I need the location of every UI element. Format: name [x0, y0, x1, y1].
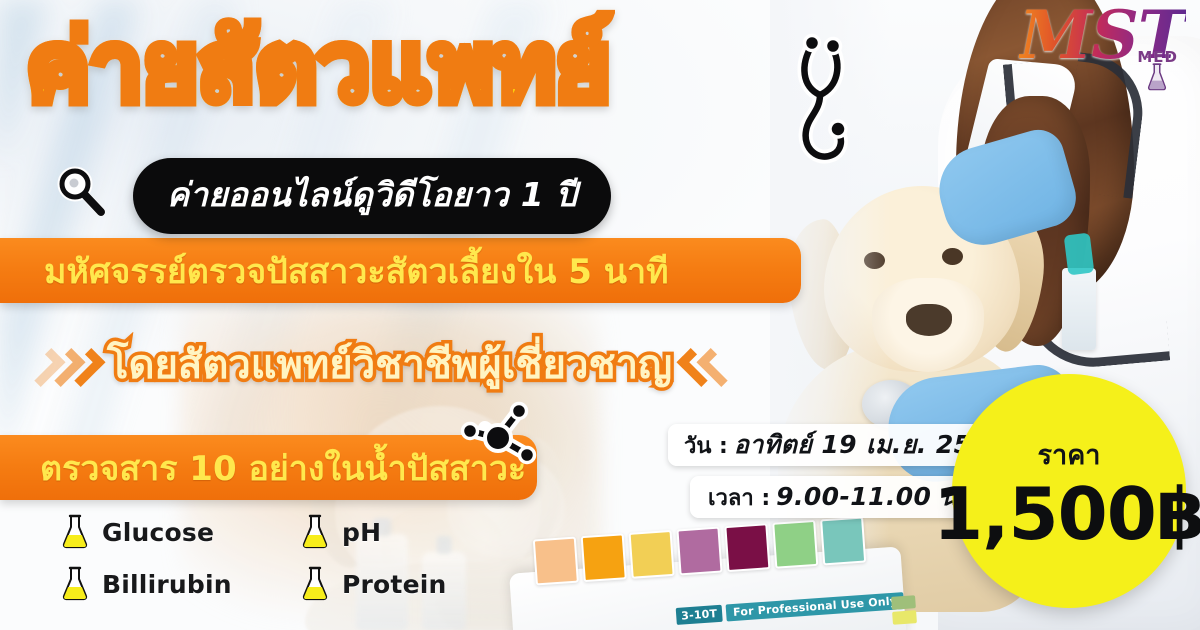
swatch — [724, 523, 770, 572]
swatch — [581, 533, 627, 582]
puppy-nose — [906, 304, 952, 336]
promo-banner: MST MED ค่ายสัตวแพทย์ ค่ายออ — [0, 0, 1200, 630]
feature-banner-1: มหัศจรรย์ตรวจปัสสาวะสัตวเลี้ยงใน 5 นาที — [0, 238, 801, 303]
event-date-key: วัน : — [684, 428, 728, 463]
analyte-list: Glucose pH Billirubin Prot — [60, 506, 540, 610]
page-title: ค่ายสัตวแพทย์ — [26, 18, 610, 118]
flask-icon — [60, 565, 90, 603]
chevrons-right-icon — [36, 344, 93, 384]
molecule-icon — [455, 398, 541, 476]
list-item: Glucose — [60, 513, 300, 551]
feature-banner-2: โดยสัตวแพทย์วิชาชีพผู้เชี่ยวชาญ — [0, 325, 826, 403]
swatch — [629, 530, 675, 579]
subtitle-pill: ค่ายออนไลน์ดูวิดีโอยาว 1 ปี — [133, 158, 611, 234]
mst-logo[interactable]: MST MED — [996, 4, 1186, 100]
feature-banner-2-text: โดยสัตวแพทย์วิชาชีพผู้เชี่ยวชาญ — [107, 332, 672, 396]
feature-banner-1-text: มหัศจรรย์ตรวจปัสสาวะสัตวเลี้ยงใน 5 นาที — [44, 244, 668, 298]
analyte-label: pH — [342, 518, 381, 547]
list-item: pH — [300, 513, 540, 551]
mini-test-strip — [891, 595, 917, 625]
chevrons-left-icon — [686, 344, 723, 384]
swatch — [676, 527, 722, 576]
swatch — [772, 520, 818, 569]
swatch — [820, 517, 866, 566]
mini-swatch — [892, 610, 917, 625]
mini-swatch — [891, 595, 916, 610]
flask-icon — [60, 513, 90, 551]
flask-icon — [1146, 62, 1168, 92]
magnifier-icon — [52, 162, 110, 220]
flask-icon — [300, 513, 330, 551]
price-value: 1,500฿ — [933, 478, 1200, 550]
test-strip-code: 3-10T — [676, 605, 723, 625]
feature-banner-3-text: ตรวจสาร 10 อย่างในน้ำปัสสาวะ — [40, 441, 526, 495]
analyte-label: Glucose — [102, 518, 214, 547]
stethoscope-icon — [790, 25, 880, 175]
analyte-label: Protein — [342, 570, 447, 599]
analyte-label: Billirubin — [102, 570, 232, 599]
flask-icon — [300, 565, 330, 603]
vet-id-badge — [1062, 268, 1096, 350]
list-item: Protein — [300, 565, 540, 603]
price-label: ราคา — [1038, 433, 1101, 476]
list-item: Billirubin — [60, 565, 300, 603]
puppy-eye-right — [942, 248, 963, 265]
event-time-key: เวลา : — [708, 480, 770, 515]
price-badge: ราคา 1,500฿ — [952, 374, 1186, 608]
